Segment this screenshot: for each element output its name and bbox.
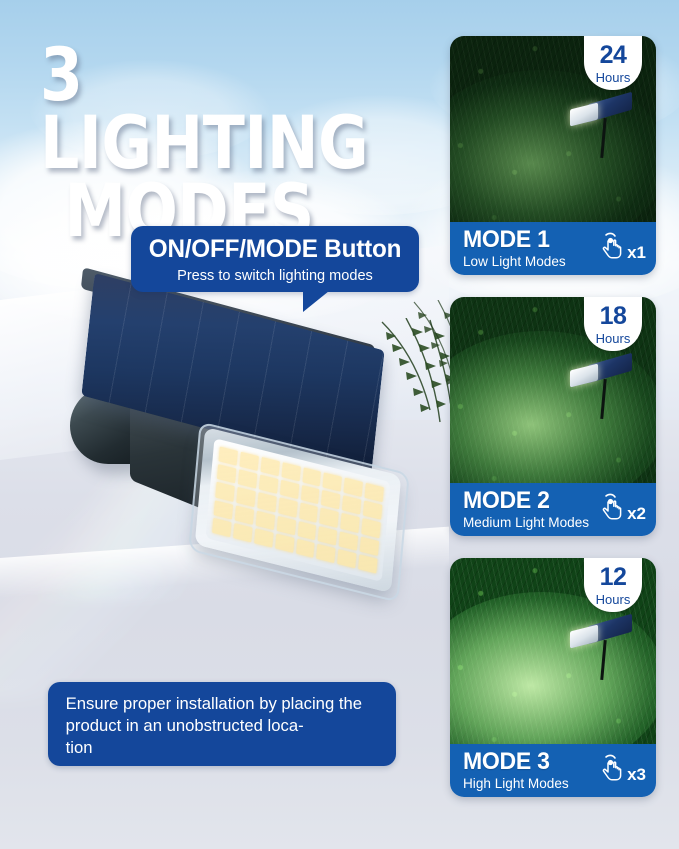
press-count: x1 xyxy=(627,244,646,261)
callout-subtitle: Press to switch lighting modes xyxy=(135,267,414,284)
mode-footer: MODE 1 Low Light Modes x1 xyxy=(450,222,656,275)
mode-card[interactable]: 24 Hours MODE 1 Low Light Modes x1 xyxy=(450,36,656,275)
runtime-hours-value: 12 xyxy=(584,558,642,590)
solar-wall-light-photo xyxy=(52,300,442,600)
runtime-badge: 18 Hours xyxy=(584,297,642,351)
mode-card[interactable]: 18 Hours MODE 2 Medium Light Modes x2 xyxy=(450,297,656,536)
mode-footer-text: MODE 3 High Light Modes xyxy=(463,749,572,792)
runtime-hours-label: Hours xyxy=(584,590,642,606)
mode-footer-text: MODE 1 Low Light Modes xyxy=(463,227,569,270)
press-count-group: x1 xyxy=(599,232,646,262)
mode-footer: MODE 3 High Light Modes x3 xyxy=(450,744,656,797)
mode-card-list: 24 Hours MODE 1 Low Light Modes x1 xyxy=(450,36,656,819)
mode-description: Low Light Modes xyxy=(463,254,566,269)
runtime-badge: 24 Hours xyxy=(584,36,642,90)
product-infographic: 3 LIGHTING MODES ON/OFF/MODE Button Pres… xyxy=(0,0,679,849)
mode-title: MODE 3 xyxy=(463,749,568,774)
headline-line-1: 3 LIGHTING xyxy=(40,33,368,186)
lamp-ground-stake xyxy=(600,118,606,158)
runtime-hours-value: 24 xyxy=(584,36,642,68)
mode-card[interactable]: 12 Hours MODE 3 High Light Modes x3 xyxy=(450,558,656,797)
mode-title: MODE 1 xyxy=(463,227,565,252)
lamp-ground-stake xyxy=(600,379,606,419)
lamp-led-head xyxy=(570,625,598,649)
lamp-ground-stake xyxy=(600,640,606,680)
runtime-badge: 12 Hours xyxy=(584,558,642,612)
press-count: x3 xyxy=(627,766,646,783)
tap-hand-icon xyxy=(599,493,625,523)
page-title: 3 LIGHTING MODES xyxy=(40,42,407,246)
installation-note-text: Ensure proper installation by placing th… xyxy=(48,682,389,758)
mode-footer: MODE 2 Medium Light Modes x2 xyxy=(450,483,656,536)
led-glass-cover xyxy=(188,421,410,602)
solar-stake-light xyxy=(570,98,634,160)
callout-title: ON/OFF/MODE Button xyxy=(135,235,414,264)
installation-note-box: Ensure proper installation by placing th… xyxy=(48,682,396,766)
mode-description: Medium Light Modes xyxy=(463,515,589,530)
runtime-hours-label: Hours xyxy=(584,329,642,345)
lamp-led-head xyxy=(570,364,598,388)
callout-tail xyxy=(303,291,329,312)
solar-stake-light xyxy=(570,620,634,682)
tap-hand-icon xyxy=(599,754,625,784)
runtime-hours-value: 18 xyxy=(584,297,642,329)
mode-description: High Light Modes xyxy=(463,776,569,791)
press-count-group: x3 xyxy=(599,754,646,784)
mode-footer-text: MODE 2 Medium Light Modes xyxy=(463,488,593,531)
mode-title: MODE 2 xyxy=(463,488,588,513)
solar-stake-light xyxy=(570,359,634,421)
lamp-led-head xyxy=(570,103,598,127)
runtime-hours-label: Hours xyxy=(584,68,642,84)
press-count-group: x2 xyxy=(599,493,646,523)
press-count: x2 xyxy=(627,505,646,522)
mode-button-callout: ON/OFF/MODE Button Press to switch light… xyxy=(131,226,419,292)
tap-hand-icon xyxy=(599,232,625,262)
